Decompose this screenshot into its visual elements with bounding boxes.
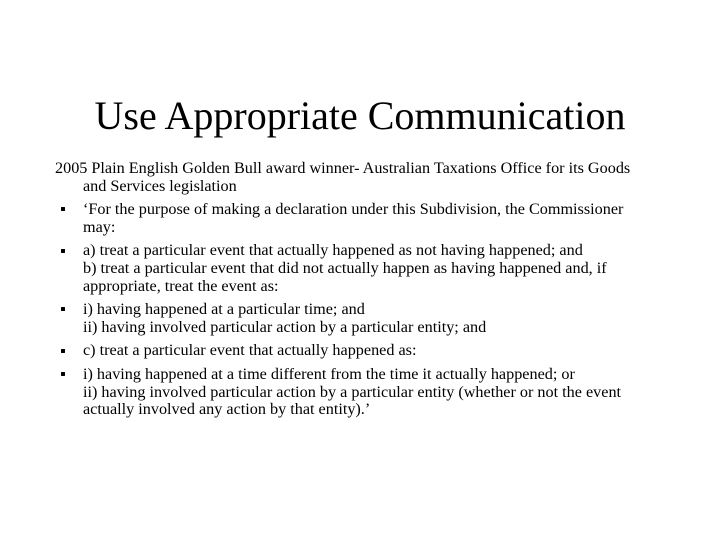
bullet-icon [61, 201, 75, 219]
list-item-text: a) treat a particular event that actuall… [83, 242, 647, 295]
list-item-text: i) having happened at a particular time;… [83, 301, 647, 336]
list-item-text: c) treat a particular event that actuall… [83, 342, 647, 360]
list-item: i) having happened at a particular time;… [55, 301, 647, 336]
list-item-text: 2005 Plain English Golden Bull award win… [83, 160, 647, 195]
bullet-icon [61, 342, 75, 360]
list-item: c) treat a particular event that actuall… [55, 342, 647, 360]
bullet-icon [61, 242, 75, 260]
bullet-icon [61, 366, 75, 384]
slide-canvas: Use Appropriate Communication 2005 Plain… [0, 0, 720, 540]
list-item: i) having happened at a time different f… [55, 366, 647, 419]
list-item-text: ‘For the purpose of making a declaration… [83, 201, 647, 236]
bullet-icon [61, 301, 75, 319]
list-item: a) treat a particular event that actuall… [55, 242, 647, 295]
list-item: ‘For the purpose of making a declaration… [55, 201, 647, 236]
list-item-text: i) having happened at a time different f… [83, 366, 647, 419]
page-title: Use Appropriate Communication [36, 93, 684, 139]
list-item: 2005 Plain English Golden Bull award win… [55, 160, 647, 195]
slide-body: 2005 Plain English Golden Bull award win… [55, 160, 647, 425]
